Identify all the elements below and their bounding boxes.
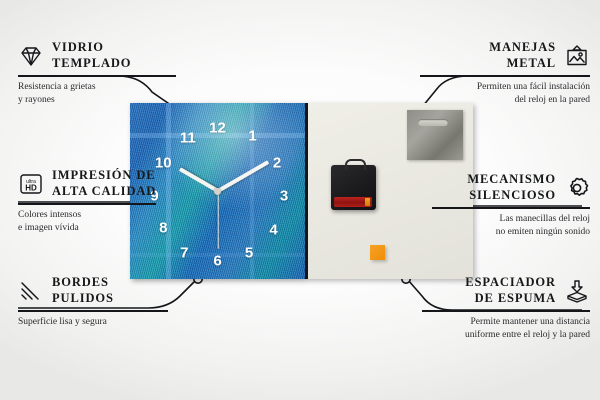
callout-rule [422, 310, 590, 312]
clock-numeral-8: 8 [159, 220, 167, 235]
ultra-hd-icon: ultra HD [18, 172, 44, 196]
callout-title-line2: METAL [507, 56, 556, 70]
clock-numeral-7: 7 [180, 245, 188, 260]
callout-desc-line1: Superficie lisa y segura [18, 317, 107, 327]
metal-hanger-plate [407, 110, 463, 160]
callout-desc-line2: e imagen vívida [18, 223, 79, 233]
callout-title-line1: ESPACIADOR [465, 275, 556, 289]
clock-numeral-6: 6 [213, 254, 221, 269]
callout-title-line1: BORDES [52, 275, 109, 289]
clock-numeral-1: 1 [248, 129, 256, 144]
gear-icon [564, 176, 590, 200]
infographic-canvas: 12 1 2 3 4 5 6 7 8 9 10 11 [0, 0, 600, 400]
clock-numeral-10: 10 [155, 155, 172, 170]
callout-desc-line2: del reloj en la pared [515, 95, 590, 105]
callout-rule [18, 75, 176, 77]
hanger-slot [418, 119, 448, 126]
quartz-mechanism-box [331, 165, 376, 210]
callout-desc-line1: Resistencia a grietas [18, 82, 96, 92]
mechanism-hanging-loop [345, 159, 366, 170]
callout-desc-line1: Colores intensos [18, 210, 81, 220]
callout-impresion-alta-calidad: ultra HD IMPRESIÓN DE ALTA CALIDAD Color… [18, 168, 156, 234]
callout-vidrio-templado: VIDRIO TEMPLADO Resistencia a grietas y … [18, 40, 176, 106]
polished-edges-icon [18, 279, 44, 303]
callout-rule [420, 75, 590, 77]
callout-manejas-metal: MANEJAS METAL Permiten una fácil instala… [420, 40, 590, 106]
callout-rule [18, 310, 168, 312]
callout-title-line2: TEMPLADO [52, 56, 131, 70]
product-image: 12 1 2 3 4 5 6 7 8 9 10 11 [130, 103, 470, 281]
battery [334, 197, 372, 207]
callout-desc-line1: Permiten una fácil instalación [477, 82, 590, 92]
callout-desc-line1: Las manecillas del reloj [500, 214, 590, 224]
callout-desc-line2: no emiten ningún sonido [496, 227, 590, 237]
picture-frame-hanging-icon [564, 44, 590, 68]
callout-title-line1: MECANISMO [467, 172, 556, 186]
diamond-icon [18, 44, 44, 68]
callout-rule [18, 203, 156, 205]
clock-front-face: 12 1 2 3 4 5 6 7 8 9 10 11 [130, 103, 305, 279]
clock-numeral-12: 12 [209, 120, 226, 135]
clock-numeral-11: 11 [180, 131, 196, 146]
callout-title-line1: VIDRIO [52, 40, 104, 54]
clock-numeral-3: 3 [280, 189, 288, 204]
callout-mecanismo-silencioso: MECANISMO SILENCIOSO Las manecillas del … [432, 172, 590, 238]
callout-title-line2: SILENCIOSO [469, 188, 556, 202]
callout-rule [432, 207, 590, 209]
foam-spacer [370, 245, 385, 260]
callout-title-line2: PULIDOS [52, 291, 114, 305]
clock-center-cap [214, 188, 221, 195]
clock-numeral-5: 5 [245, 245, 253, 260]
callout-title-line2: DE ESPUMA [475, 291, 556, 305]
callout-desc-line2: y rayones [18, 95, 55, 105]
callout-title-line1: IMPRESIÓN DE [52, 168, 156, 182]
callout-desc-line2: uniforme entre el reloj y la pared [465, 330, 590, 340]
callout-bordes-pulidos: BORDES PULIDOS Superficie lisa y segura [18, 275, 168, 329]
svg-text:HD: HD [25, 183, 37, 192]
callout-desc-line1: Permite mantener una distancia [471, 317, 591, 327]
clock-minute-hand [217, 160, 269, 192]
arrow-onto-foam-icon [564, 279, 590, 303]
clock-hour-hand [178, 167, 218, 192]
clock-numeral-4: 4 [269, 222, 277, 237]
clock-numeral-2: 2 [273, 155, 281, 170]
callout-title-line2: ALTA CALIDAD [52, 184, 156, 198]
clock-second-hand [217, 191, 218, 249]
callout-espaciador-espuma: ESPACIADOR DE ESPUMA Permite mantener un… [422, 275, 590, 341]
callout-title-line1: MANEJAS [489, 40, 556, 54]
